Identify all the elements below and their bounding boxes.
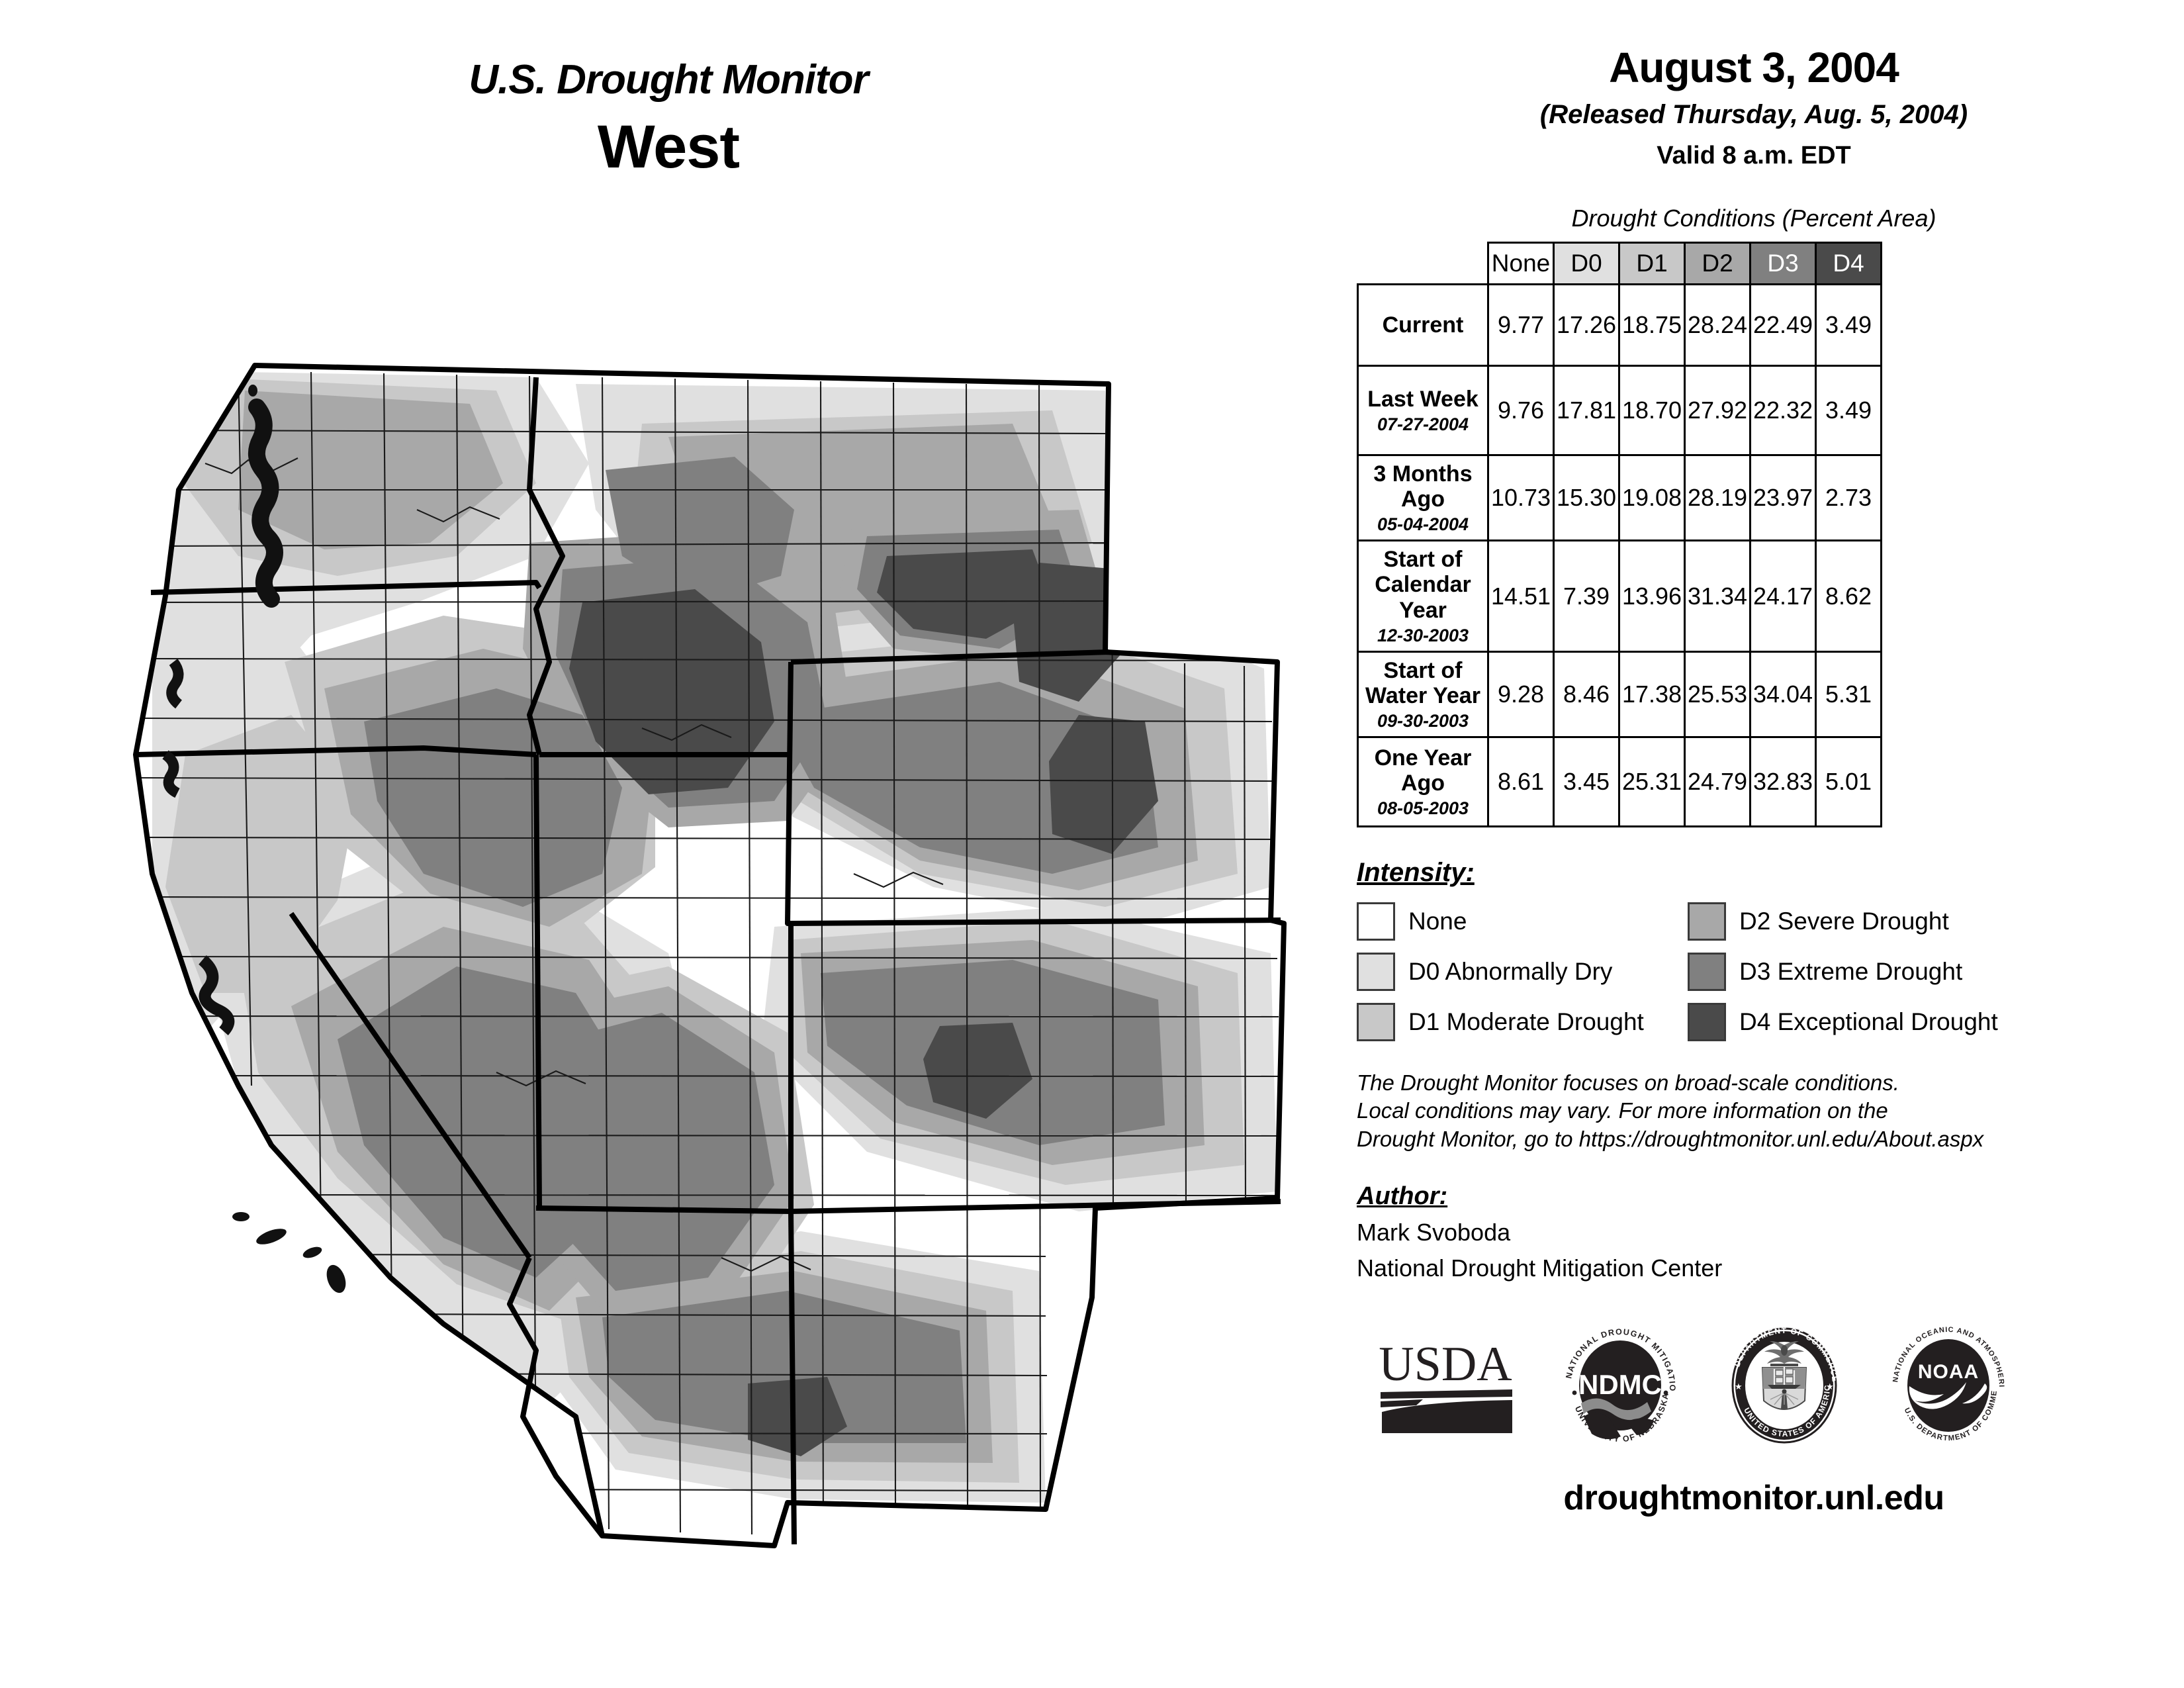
legend-label-d4: D4 Exceptional Drought: [1739, 1008, 1998, 1036]
legend: None D2 Severe Drought D0 Abnormally Dry…: [1357, 902, 2151, 1041]
logo-row: USDA NATIONAL DROUGHT MITIGATION CENTER …: [1377, 1319, 2151, 1452]
svg-text:USDA: USDA: [1379, 1337, 1512, 1391]
svg-text:NOAA: NOAA: [1918, 1361, 1979, 1383]
doc-seal: DEPARTMENT OF COMMERCE UNITED STATES OF …: [1721, 1323, 1847, 1448]
cell-current-d3: 22.49: [1751, 285, 1816, 366]
column-header-none: None: [1488, 243, 1554, 285]
row-label-last-week: Last Week 07-27-2004: [1358, 366, 1488, 455]
legend-label-d1: D1 Moderate Drought: [1408, 1008, 1644, 1036]
report-date: August 3, 2004: [1357, 46, 2151, 89]
cell-3-months-ago-d3: 23.97: [1751, 455, 1816, 541]
disclaimer-line-3: Drought Monitor, go to https://droughtmo…: [1357, 1125, 2151, 1153]
cell-start-calendar-year-d3: 24.17: [1751, 541, 1816, 651]
row-label-date: 08-05-2003: [1361, 798, 1484, 818]
cell-start-water-year-d4: 5.31: [1816, 651, 1882, 737]
report-released-date: (Released Thursday, Aug. 5, 2004): [1357, 101, 2151, 128]
row-label-date: 12-30-2003: [1361, 626, 1484, 645]
row-label-text: 3 Months Ago: [1361, 461, 1484, 512]
ndmc-logo: NATIONAL DROUGHT MITIGATION CENTER UNIVE…: [1557, 1323, 1683, 1448]
cell-start-calendar-year-d4: 8.62: [1816, 541, 1882, 651]
row-label-text: Start of Water Year: [1361, 658, 1484, 708]
legend-item-d1: D1 Moderate Drought: [1357, 1003, 1648, 1041]
table-header-row: None D0 D1 D2 D3 D4: [1358, 243, 1882, 285]
drought-conditions-table: None D0 D1 D2 D3 D4 Current 9.77 17.26 1…: [1357, 242, 1882, 827]
legend-label-d0: D0 Abnormally Dry: [1408, 958, 1612, 986]
cell-start-calendar-year-d2: 31.34: [1685, 541, 1751, 651]
cell-start-water-year-d0: 8.46: [1554, 651, 1619, 737]
legend-label-d2: D2 Severe Drought: [1739, 908, 1949, 935]
row-label-one-year-ago: One Year Ago 08-05-2003: [1358, 737, 1488, 827]
cell-3-months-ago-d0: 15.30: [1554, 455, 1619, 541]
cell-last-week-d0: 17.81: [1554, 366, 1619, 455]
disclaimer-line-1: The Drought Monitor focuses on broad-sca…: [1357, 1069, 2151, 1097]
table-row: Last Week 07-27-2004 9.76 17.81 18.70 27…: [1358, 366, 1882, 455]
svg-text:NDMC: NDMC: [1578, 1369, 1662, 1400]
cell-last-week-d3: 22.32: [1751, 366, 1816, 455]
author-organization: National Drought Mitigation Center: [1357, 1254, 2151, 1282]
disclaimer-line-2: Local conditions may vary. For more info…: [1357, 1097, 2151, 1125]
cell-one-year-ago-d4: 5.01: [1816, 737, 1882, 827]
column-header-d2: D2: [1685, 243, 1751, 285]
author-name: Mark Svoboda: [1357, 1219, 2151, 1246]
noaa-logo: NATIONAL OCEANIC AND ATMOSPHERIC ADMINIS…: [1886, 1323, 2011, 1448]
page-title-block: U.S. Drought Monitor West: [371, 60, 966, 177]
row-label-text: Start of Calendar Year: [1361, 547, 1484, 622]
column-header-d0: D0: [1554, 243, 1619, 285]
legend-item-d4: D4 Exceptional Drought: [1688, 1003, 2151, 1041]
cell-current-none: 9.77: [1488, 285, 1554, 366]
page-title-region: West: [371, 117, 966, 177]
cell-current-d0: 17.26: [1554, 285, 1619, 366]
table-caption: Drought Conditions (Percent Area): [1357, 205, 2151, 232]
row-label-start-water-year: Start of Water Year 09-30-2003: [1358, 651, 1488, 737]
row-label-3-months-ago: 3 Months Ago 05-04-2004: [1358, 455, 1488, 541]
cell-start-water-year-d1: 17.38: [1619, 651, 1685, 737]
row-label-text: Current: [1361, 312, 1484, 338]
cell-last-week-d4: 3.49: [1816, 366, 1882, 455]
row-label-date: 07-27-2004: [1361, 414, 1484, 434]
cell-one-year-ago-d2: 24.79: [1685, 737, 1751, 827]
report-valid-time: Valid 8 a.m. EDT: [1357, 142, 2151, 170]
legend-swatch-none: [1357, 902, 1395, 941]
author-heading: Author:: [1357, 1182, 2151, 1211]
cell-current-d4: 3.49: [1816, 285, 1882, 366]
drought-map[interactable]: [73, 291, 1330, 1549]
drought-map-svg[interactable]: [73, 291, 1330, 1549]
cell-3-months-ago-d2: 28.19: [1685, 455, 1751, 541]
legend-label-none: None: [1408, 908, 1467, 935]
row-label-text: One Year Ago: [1361, 745, 1484, 796]
cell-one-year-ago-none: 8.61: [1488, 737, 1554, 827]
legend-item-d0: D0 Abnormally Dry: [1357, 953, 1648, 991]
drought-conditions-table-wrap: None D0 D1 D2 D3 D4 Current 9.77 17.26 1…: [1357, 242, 2151, 827]
cell-one-year-ago-d0: 3.45: [1554, 737, 1619, 827]
page-title: U.S. Drought Monitor: [371, 60, 966, 101]
row-label-current: Current: [1358, 285, 1488, 366]
cell-start-water-year-d3: 34.04: [1751, 651, 1816, 737]
column-header-d3: D3: [1751, 243, 1816, 285]
cell-one-year-ago-d3: 32.83: [1751, 737, 1816, 827]
cell-current-d2: 28.24: [1685, 285, 1751, 366]
cell-start-calendar-year-d0: 7.39: [1554, 541, 1619, 651]
legend-swatch-d3: [1688, 953, 1726, 991]
right-panel: August 3, 2004 (Released Thursday, Aug. …: [1357, 46, 2151, 1518]
usda-logo: USDA: [1377, 1333, 1519, 1438]
legend-item-d2: D2 Severe Drought: [1688, 902, 2151, 941]
legend-label-d3: D3 Extreme Drought: [1739, 958, 1962, 986]
legend-swatch-d0: [1357, 953, 1395, 991]
row-label-date: 09-30-2003: [1361, 711, 1484, 731]
row-label-start-calendar-year: Start of Calendar Year 12-30-2003: [1358, 541, 1488, 651]
row-label-text: Last Week: [1361, 387, 1484, 412]
cell-last-week-d2: 27.92: [1685, 366, 1751, 455]
legend-swatch-d2: [1688, 902, 1726, 941]
column-header-d4: D4: [1816, 243, 1882, 285]
cell-start-water-year-none: 9.28: [1488, 651, 1554, 737]
cell-one-year-ago-d1: 25.31: [1619, 737, 1685, 827]
legend-item-d3: D3 Extreme Drought: [1688, 953, 2151, 991]
cell-current-d1: 18.75: [1619, 285, 1685, 366]
legend-item-none: None: [1357, 902, 1648, 941]
cell-last-week-none: 9.76: [1488, 366, 1554, 455]
table-row: Start of Calendar Year 12-30-2003 14.51 …: [1358, 541, 1882, 651]
disclaimer: The Drought Monitor focuses on broad-sca…: [1357, 1069, 2151, 1153]
cell-3-months-ago-d4: 2.73: [1816, 455, 1882, 541]
cell-start-calendar-year-d1: 13.96: [1619, 541, 1685, 651]
legend-swatch-d4: [1688, 1003, 1726, 1041]
legend-swatch-d1: [1357, 1003, 1395, 1041]
footer-url[interactable]: droughtmonitor.unl.edu: [1357, 1478, 2151, 1518]
cell-start-calendar-year-none: 14.51: [1488, 541, 1554, 651]
row-label-date: 05-04-2004: [1361, 514, 1484, 534]
table-row: Start of Water Year 09-30-2003 9.28 8.46…: [1358, 651, 1882, 737]
table-row: 3 Months Ago 05-04-2004 10.73 15.30 19.0…: [1358, 455, 1882, 541]
cell-3-months-ago-d1: 19.08: [1619, 455, 1685, 541]
table-row: One Year Ago 08-05-2003 8.61 3.45 25.31 …: [1358, 737, 1882, 827]
svg-text:★: ★: [1826, 1382, 1834, 1391]
svg-text:★: ★: [1735, 1382, 1743, 1391]
table-row: Current 9.77 17.26 18.75 28.24 22.49 3.4…: [1358, 285, 1882, 366]
column-header-d1: D1: [1619, 243, 1685, 285]
table-corner-cell: [1358, 243, 1488, 285]
cell-3-months-ago-none: 10.73: [1488, 455, 1554, 541]
legend-heading: Intensity:: [1357, 858, 2151, 888]
cell-last-week-d1: 18.70: [1619, 366, 1685, 455]
cell-start-water-year-d2: 25.53: [1685, 651, 1751, 737]
